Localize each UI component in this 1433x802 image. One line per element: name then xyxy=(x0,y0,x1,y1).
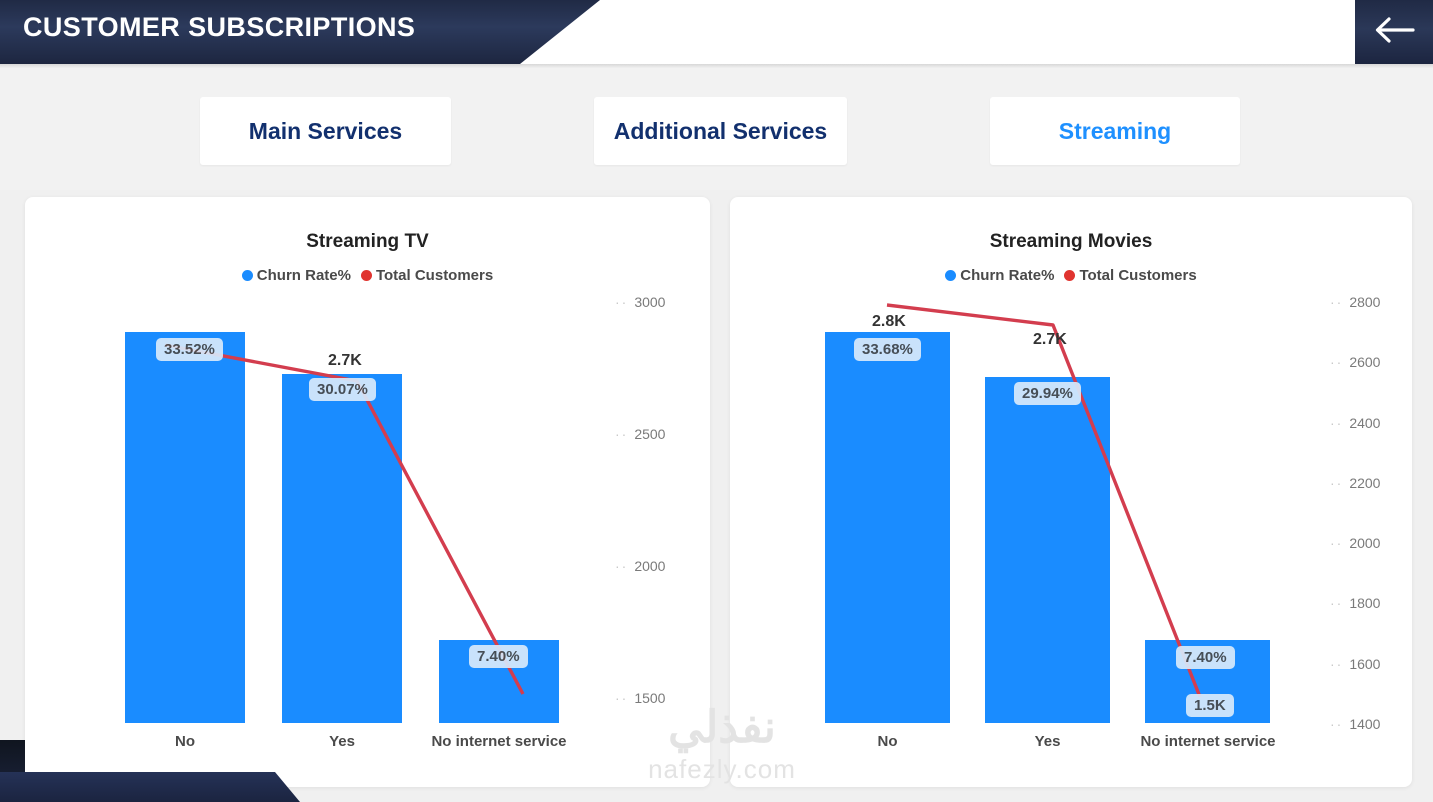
y-tick: ··2000 xyxy=(1330,535,1380,551)
back-button[interactable] xyxy=(1355,0,1433,64)
tab-main-services-label: Main Services xyxy=(249,118,402,145)
data-label-churn-yes: 29.94% xyxy=(1014,382,1081,405)
x-label-no: No xyxy=(825,733,950,750)
chart-card-streaming-movies: Streaming Movies Churn Rate% Total Custo… xyxy=(730,197,1412,787)
x-label-yes: Yes xyxy=(985,733,1110,750)
y-tick: ··1400 xyxy=(1330,716,1380,732)
app-header: CUSTOMER SUBSCRIPTIONS xyxy=(0,0,1433,64)
y-tick: ··1800 xyxy=(1330,595,1380,611)
data-label-customers-yes: 2.7K xyxy=(1033,331,1067,349)
data-label-churn-no-internet: 7.40% xyxy=(469,645,528,668)
data-label-churn-yes: 30.07% xyxy=(309,378,376,401)
x-label-no-internet-service: No internet service xyxy=(1128,733,1288,750)
x-label-yes: Yes xyxy=(282,733,402,750)
plot-area: 2.8K 33.68% 2.7K 29.94% 7.40% 1.5K ··280… xyxy=(730,197,1412,787)
y-tick: ··2000 xyxy=(615,558,665,574)
total-customers-line xyxy=(25,197,710,787)
tab-streaming-label: Streaming xyxy=(1059,118,1171,145)
tab-additional-services-label: Additional Services xyxy=(614,118,827,145)
data-label-customers-yes: 2.7K xyxy=(328,352,362,370)
plot-area: 33.52% 30.07% 7.40% 2.7K ··3000 ··2500 ·… xyxy=(25,197,710,787)
page-title: CUSTOMER SUBSCRIPTIONS xyxy=(23,12,415,43)
tab-streaming[interactable]: Streaming xyxy=(990,97,1240,165)
tab-bar: Main Services Additional Services Stream… xyxy=(0,68,1433,190)
x-label-no: No xyxy=(125,733,245,750)
y-tick: ··2600 xyxy=(1330,354,1380,370)
y-tick: ··2200 xyxy=(1330,475,1380,491)
footer-corner-accent xyxy=(0,772,300,802)
y-tick: ··1500 xyxy=(615,690,665,706)
tab-additional-services[interactable]: Additional Services xyxy=(594,97,847,165)
data-label-churn-no: 33.52% xyxy=(156,338,223,361)
x-label-no-internet-service: No internet service xyxy=(419,733,579,750)
data-label-customers-no: 2.8K xyxy=(872,313,906,331)
y-tick: ··1600 xyxy=(1330,656,1380,672)
y-tick: ··2400 xyxy=(1330,415,1380,431)
data-label-customers-no-internet: 1.5K xyxy=(1186,694,1234,717)
total-customers-line xyxy=(730,197,1412,787)
data-label-churn-no-internet: 7.40% xyxy=(1176,646,1235,669)
data-label-churn-no: 33.68% xyxy=(854,338,921,361)
y-tick: ··2800 xyxy=(1330,294,1380,310)
y-tick: ··2500 xyxy=(615,426,665,442)
y-tick: ··3000 xyxy=(615,294,665,310)
chart-card-streaming-tv: Streaming TV Churn Rate% Total Customers… xyxy=(25,197,710,787)
arrow-left-icon xyxy=(1373,15,1415,50)
tab-main-services[interactable]: Main Services xyxy=(200,97,451,165)
